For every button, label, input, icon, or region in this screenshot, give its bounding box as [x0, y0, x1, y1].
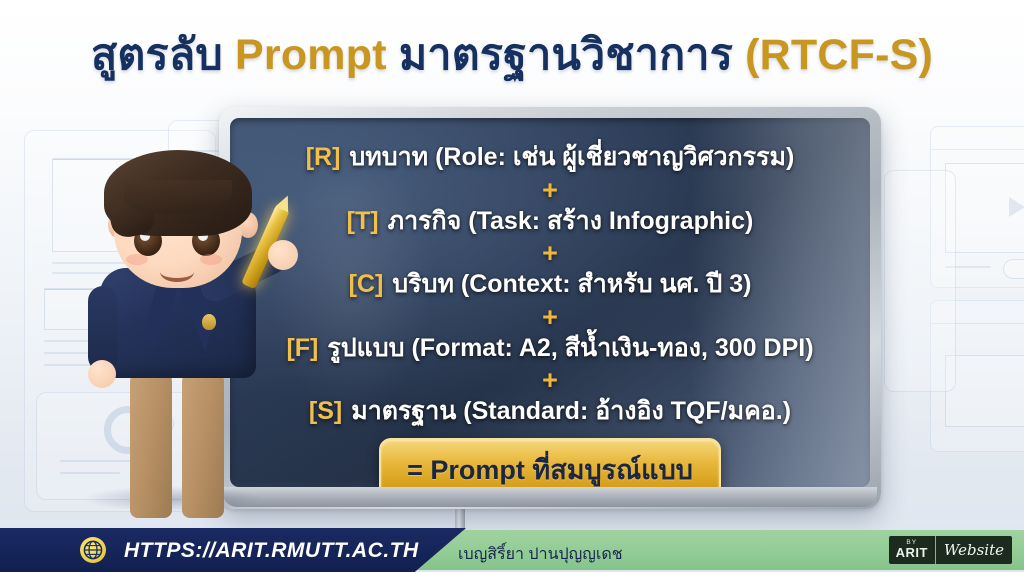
arit-logo-block: BY ARIT [889, 536, 935, 564]
plus-separator-1: + [542, 177, 558, 204]
wireframe-window-titlebar [931, 301, 1024, 324]
wireframe-window-titlebar [931, 127, 1024, 150]
character-legs [130, 368, 224, 518]
character-mouth [160, 262, 194, 282]
character-leg-right [182, 368, 224, 518]
wireframe-content-box [945, 163, 1024, 253]
footer-author-name: เบญสิริ์ยา ปานปุญญเดช [458, 542, 623, 567]
play-icon [1009, 197, 1024, 217]
title-text-rtcfs: (RTCF-S) [745, 31, 933, 79]
title-text-part2: มาตรฐานวิชาการ [387, 31, 745, 79]
formula-text-s: มาตรฐาน (Standard: อ้างอิง TQF/มคอ.) [351, 398, 791, 426]
page-title: สูตรลับ Prompt มาตรฐานวิชาการ (RTCF-S) [0, 20, 1024, 88]
wireframe-button [1003, 259, 1024, 279]
wireframe-line [945, 266, 991, 268]
character-hand-right [268, 240, 298, 270]
formula-row-t: [T] ภารกิจ (Task: สร้าง Infographic) [347, 208, 754, 236]
board-tray [223, 487, 877, 507]
wireframe-window-top-right [930, 126, 1024, 288]
footer-url[interactable]: HTTPS://ARIT.RMUTT.AC.TH [124, 539, 419, 563]
formula-row-s: [S] มาตรฐาน (Standard: อ้างอิง TQF/มคอ.) [309, 398, 791, 426]
formula-tag-c: [C] [349, 271, 384, 299]
formula-text-f: รูปแบบ (Format: A2, สีน้ำเงิน-ทอง, 300 D… [327, 335, 813, 363]
formula-tag-t: [T] [347, 208, 379, 236]
jacket-badge-icon [202, 314, 216, 330]
whiteboard: [R] บทบาท (Role: เช่น ผู้เชี่ยวชาญวิศวกร… [219, 107, 881, 509]
formula-tag-r: [R] [306, 144, 341, 172]
board-surface: [R] บทบาท (Role: เช่น ผู้เชี่ยวชาญวิศวกร… [230, 118, 870, 487]
formula-row-r: [R] บทบาท (Role: เช่น ผู้เชี่ยวชาญวิศวกร… [306, 144, 795, 172]
result-badge: = Prompt ที่สมบูรณ์แบบ [379, 438, 721, 488]
slide-canvas: สูตรลับ Prompt มาตรฐานวิชาการ (RTCF-S) [… [0, 0, 1024, 572]
wireframe-content-box [945, 355, 1024, 427]
footer-bar: HTTPS://ARIT.RMUTT.AC.TH เบญสิริ์ยา ปานป… [0, 528, 1024, 572]
wireframe-window-bottom-right [930, 300, 1024, 452]
globe-icon [80, 537, 106, 563]
formula-list: [R] บทบาท (Role: เช่น ผู้เชี่ยวชาญวิศวกร… [230, 144, 870, 487]
formula-text-t: ภารกิจ (Task: สร้าง Infographic) [388, 208, 754, 236]
formula-text-c: บริบท (Context: สำหรับ นศ. ปี 3) [392, 271, 751, 299]
formula-text-r: บทบาท (Role: เช่น ผู้เชี่ยวชาญวิศวกรรม) [349, 144, 794, 172]
character-leg-left [130, 368, 172, 518]
character-hand-left [88, 360, 116, 388]
wireframe-panel-far-right [884, 170, 956, 392]
character-blush-left [126, 254, 148, 265]
title-text-prompt: Prompt [235, 31, 387, 79]
mascot-character [52, 128, 302, 528]
plus-separator-4: + [542, 367, 558, 394]
logo-arit-label: ARIT [896, 546, 928, 560]
title-text-part1: สูตรลับ [91, 31, 235, 79]
board-frame: [R] บทบาท (Role: เช่น ผู้เชี่ยวชาญวิศวกร… [219, 107, 881, 509]
logo-website-label: Website [936, 536, 1012, 564]
formula-tag-s: [S] [309, 398, 342, 426]
formula-row-c: [C] บริบท (Context: สำหรับ นศ. ปี 3) [349, 271, 752, 299]
formula-row-f: [F] รูปแบบ (Format: A2, สีน้ำเงิน-ทอง, 3… [286, 335, 813, 363]
arit-website-logo[interactable]: BY ARIT Website [889, 536, 1012, 564]
plus-separator-3: + [542, 304, 558, 331]
character-blush-right [200, 254, 222, 265]
plus-separator-2: + [542, 240, 558, 267]
